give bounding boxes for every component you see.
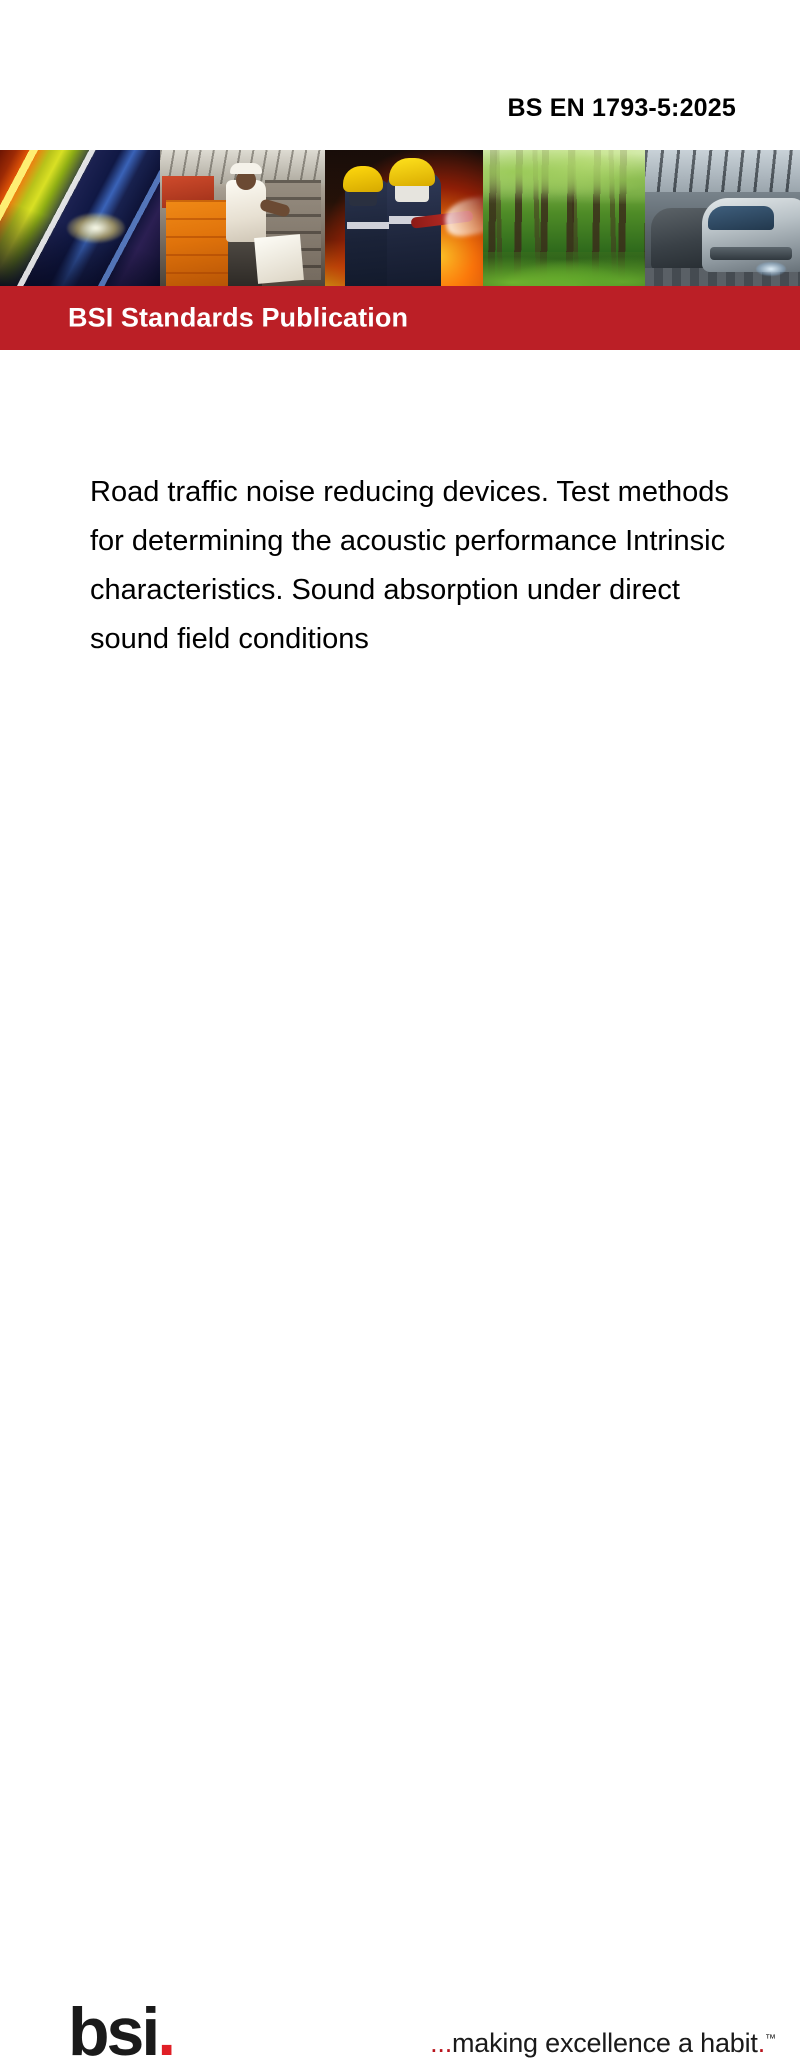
page-title-line-3: characteristics. Sound absorption under … — [90, 566, 800, 615]
water-spray-detail — [442, 193, 483, 239]
firefighter-one-stripe-detail — [347, 222, 389, 229]
trademark-icon: ™ — [765, 2033, 776, 2045]
banner-image-strip — [0, 150, 800, 286]
car-production-line-image — [645, 150, 800, 286]
firefighter-one-helmet-detail — [343, 166, 383, 192]
page-title-line-1: Road traffic noise reducing devices. Tes… — [90, 468, 800, 517]
factory-ceiling-detail — [645, 150, 800, 192]
page-title: Road traffic noise reducing devices. Tes… — [90, 468, 800, 664]
firefighter-two-helmet-detail — [389, 158, 435, 186]
page-title-line-2: for determining the acoustic performance… — [90, 517, 800, 566]
car-windshield-detail — [708, 206, 774, 230]
traffic-light-trails-image — [0, 150, 160, 286]
cover-banner: BSI Standards Publication — [0, 150, 800, 350]
page-title-line-4: sound field conditions — [90, 615, 800, 664]
tagline-leading-dots: ... — [430, 2028, 452, 2058]
standards-publication-band: BSI Standards Publication — [0, 286, 800, 350]
forest-image — [483, 150, 645, 286]
cover-footer: bsi. ...making excellence a habit.™ — [0, 992, 800, 1132]
car-headlamp-detail — [756, 262, 786, 276]
firefighters-image — [325, 150, 483, 286]
bsi-tagline: ...making excellence a habit.™ — [430, 2028, 776, 2059]
tagline-text: making excellence a habit — [452, 2028, 758, 2058]
bsi-logo-dot-icon: . — [157, 1994, 173, 2070]
bsi-logo-wordmark: bsi. — [68, 1996, 198, 2068]
tagline-period: . — [758, 2028, 765, 2058]
standards-publication-label: BSI Standards Publication — [68, 303, 408, 334]
warehouse-worker-image — [160, 150, 325, 286]
standard-number: BS EN 1793-5:2025 — [507, 94, 736, 123]
car-grille-detail — [710, 247, 792, 260]
bsi-logo-letters: bsi — [68, 1994, 157, 2070]
bsi-logo: bsi. — [68, 1996, 198, 2068]
forest-canopy-detail — [483, 150, 645, 204]
forest-undergrowth-detail — [483, 252, 645, 286]
worker-cap-detail — [230, 163, 262, 174]
warehouse-box-detail — [254, 234, 304, 284]
